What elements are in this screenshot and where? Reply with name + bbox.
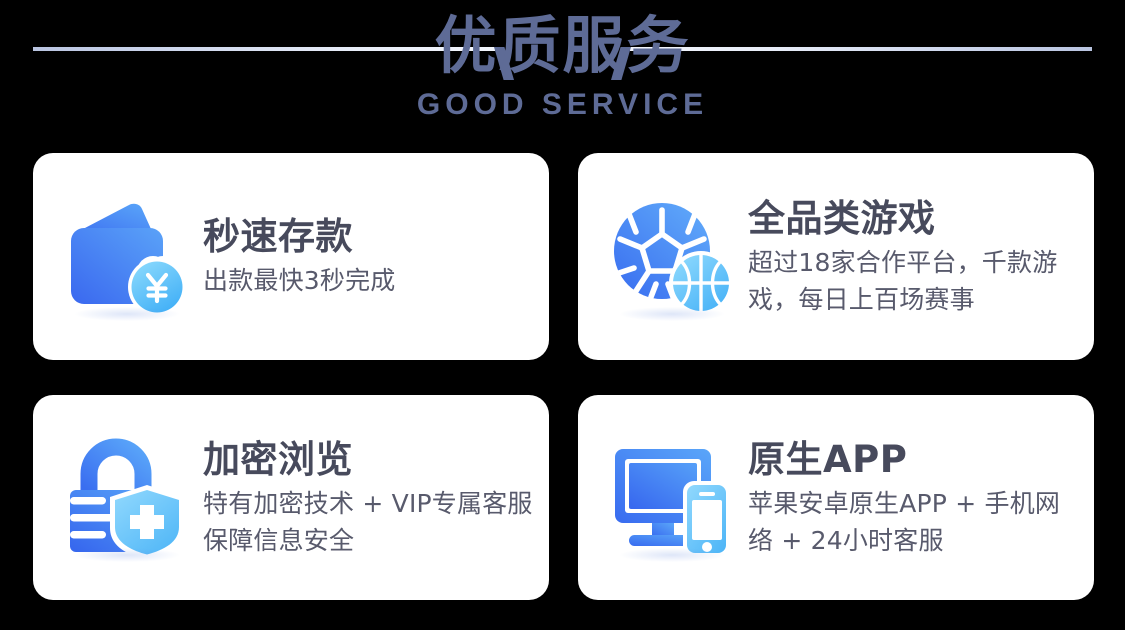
icon-shadow (620, 307, 724, 321)
soccer-basketball-icon-glyph (609, 196, 735, 318)
card-text: 秒速存款 出款最快3秒完成 (203, 214, 549, 299)
good-service-section: 优质服务 GOOD SERVICE (0, 0, 1125, 630)
icon-shadow (75, 307, 179, 321)
title-block: 优质服务 GOOD SERVICE (0, 0, 1125, 122)
soccer-basketball-icon (596, 187, 748, 327)
card-description: 超过18家合作平台，千款游戏，每日上百场赛事 (748, 244, 1080, 318)
feature-card-games[interactable]: 全品类游戏 超过18家合作平台，千款游戏，每日上百场赛事 (578, 153, 1094, 360)
monitor-phone-icon (596, 428, 748, 568)
card-text: 全品类游戏 超过18家合作平台，千款游戏，每日上百场赛事 (748, 196, 1094, 318)
wallet-yen-icon (51, 187, 203, 327)
feature-card-grid: 秒速存款 出款最快3秒完成 (33, 153, 1094, 600)
card-text: 加密浏览 特有加密技术 + VIP专属客服保障信息安全 (203, 437, 549, 559)
section-header: 优质服务 GOOD SERVICE (0, 0, 1125, 148)
card-title: 秒速存款 (203, 214, 535, 260)
lock-shield-icon (51, 428, 203, 568)
feature-card-deposit[interactable]: 秒速存款 出款最快3秒完成 (33, 153, 549, 360)
section-title-cn: 优质服务 (0, 0, 1125, 84)
card-text: 原生APP 苹果安卓原生APP + 手机网络 + 24小时客服 (748, 437, 1094, 559)
icon-shadow (75, 548, 179, 562)
card-description: 苹果安卓原生APP + 手机网络 + 24小时客服 (748, 485, 1080, 559)
section-title-en: GOOD SERVICE (0, 84, 1125, 122)
card-title: 全品类游戏 (748, 196, 1080, 242)
card-title: 原生APP (748, 437, 1080, 483)
feature-card-encryption[interactable]: 加密浏览 特有加密技术 + VIP专属客服保障信息安全 (33, 395, 549, 600)
card-description: 出款最快3秒完成 (203, 262, 535, 299)
monitor-phone-icon-glyph (609, 439, 735, 557)
feature-card-native-app[interactable]: 原生APP 苹果安卓原生APP + 手机网络 + 24小时客服 (578, 395, 1094, 600)
icon-shadow (620, 548, 724, 562)
card-description: 特有加密技术 + VIP专属客服保障信息安全 (203, 485, 535, 559)
lock-shield-icon-glyph (64, 436, 190, 560)
wallet-yen-icon-glyph (63, 195, 191, 319)
card-title: 加密浏览 (203, 437, 535, 483)
